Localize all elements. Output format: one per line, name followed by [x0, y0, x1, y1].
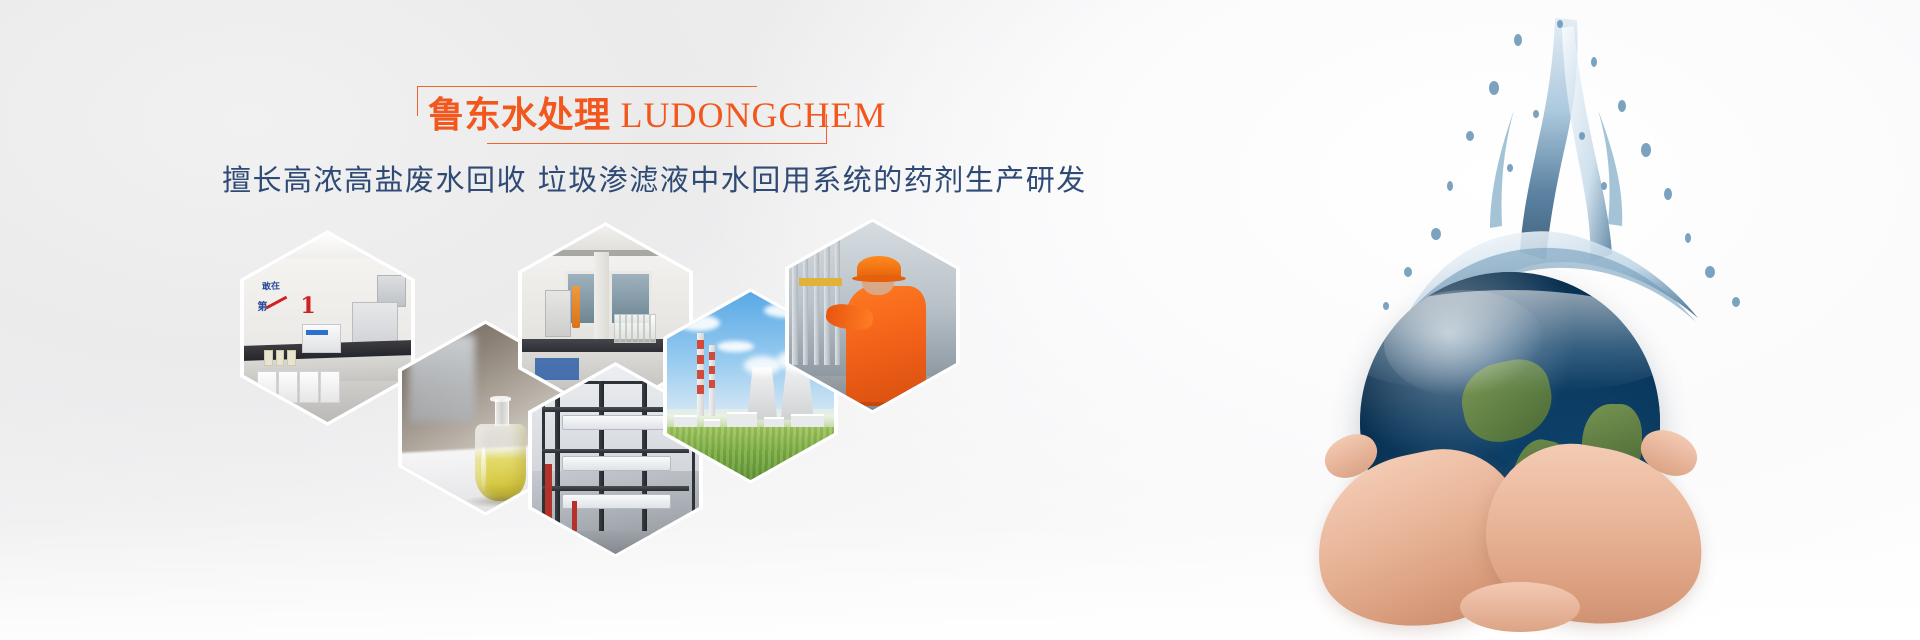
globe-highlight — [1384, 290, 1546, 398]
hex-tile-laboratory-slogan[interactable]: 敢在 第 1 — [240, 230, 415, 426]
banner-subtitle: 擅长高浓高盐废水回收 垃圾渗滤液中水回用系统的药剂生产研发 — [0, 160, 1080, 200]
headline-block: 鲁东水处理 LUDONGCHEM 擅长高浓高盐废水回收 垃圾渗滤液中水回用系统的… — [0, 86, 1080, 200]
title-frame: 鲁东水处理 LUDONGCHEM — [395, 86, 825, 148]
cupped-hands — [1310, 430, 1730, 640]
brand-title-cn: 鲁东水处理 — [428, 95, 611, 135]
bracket-bottom-right — [826, 114, 827, 144]
bracket-top-left — [417, 86, 418, 116]
title-rule-bottom — [487, 143, 827, 144]
water-globe-artwork — [1060, 0, 1920, 640]
hex-photo-laboratory-slogan: 敢在 第 1 — [244, 234, 411, 422]
slogan-wall-text: 敢在 第 1 — [257, 283, 334, 324]
title-rule-top — [417, 86, 757, 87]
hero-banner: 敢在 第 1 — [0, 0, 1920, 640]
slogan-number: 1 — [300, 295, 315, 317]
slogan-line-1: 敢在 — [262, 282, 280, 292]
finger — [1460, 582, 1580, 632]
brand-title-en — [611, 95, 621, 135]
brand-title: 鲁东水处理 LUDONGCHEM — [428, 90, 887, 140]
